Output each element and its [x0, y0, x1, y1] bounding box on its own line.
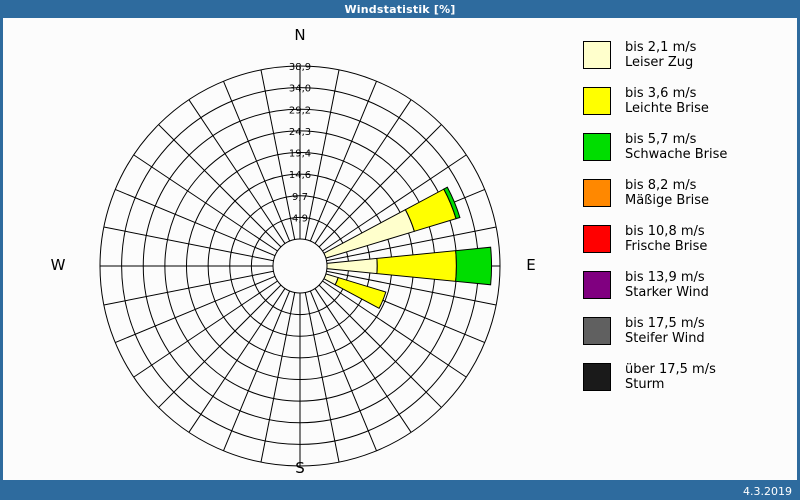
legend-speed-range: bis 10,8 m/s [625, 224, 707, 239]
legend-color-swatch [583, 271, 611, 299]
compass-label-north: N [294, 26, 305, 44]
legend-item[interactable]: bis 3,6 m/sLeichte Brise [583, 86, 793, 124]
compass-label-east: E [526, 256, 535, 274]
window-title: Windstatistik [%] [344, 3, 455, 16]
compass-label-west: W [51, 256, 66, 274]
radial-tick-label: 24,3 [289, 127, 311, 138]
legend-color-swatch [583, 87, 611, 115]
legend-item-label: bis 17,5 m/sSteifer Wind [625, 316, 705, 346]
grid-spoke [115, 276, 275, 342]
legend-item-label: bis 2,1 m/sLeiser Zug [625, 40, 696, 70]
legend-beaufort-name: Frische Brise [625, 239, 707, 254]
legend-item-label: bis 3,6 m/sLeichte Brise [625, 86, 709, 116]
legend-speed-range: bis 8,2 m/s [625, 178, 709, 193]
legend-color-swatch [583, 41, 611, 69]
grid-spoke [104, 227, 274, 261]
radial-tick-label: 38,9 [289, 62, 311, 73]
grid-spoke [159, 125, 281, 247]
legend-beaufort-name: Leiser Zug [625, 55, 696, 70]
legend-beaufort-name: Mäßige Brise [625, 193, 709, 208]
radial-tick-label: 19,4 [289, 149, 311, 160]
grid-spoke [159, 285, 281, 407]
grid-spoke [115, 189, 275, 255]
wind-rose-petals [324, 187, 492, 308]
wind-petal-segment [377, 251, 457, 282]
legend-beaufort-name: Starker Wind [625, 285, 709, 300]
date-stamp: 4.3.2019 [743, 485, 792, 498]
radial-tick-label: 29,2 [289, 105, 311, 116]
legend-item[interactable]: über 17,5 m/sSturm [583, 362, 793, 400]
legend-color-swatch [583, 363, 611, 391]
legend: bis 2,1 m/sLeiser Zugbis 3,6 m/sLeichte … [583, 40, 793, 408]
legend-color-swatch [583, 317, 611, 345]
legend-item[interactable]: bis 10,8 m/sFrische Brise [583, 224, 793, 262]
legend-speed-range: über 17,5 m/s [625, 362, 716, 377]
legend-item-label: bis 8,2 m/sMäßige Brise [625, 178, 709, 208]
compass-label-south: S [295, 459, 305, 477]
legend-beaufort-name: Sturm [625, 377, 716, 392]
legend-item[interactable]: bis 2,1 m/sLeiser Zug [583, 40, 793, 78]
polar-center-hub [273, 239, 327, 293]
legend-speed-range: bis 3,6 m/s [625, 86, 709, 101]
legend-beaufort-name: Steifer Wind [625, 331, 705, 346]
wind-petal-segment [327, 258, 377, 273]
polar-center-circle [273, 239, 327, 293]
radial-tick-label: 4,9 [292, 213, 308, 224]
legend-item-label: bis 10,8 m/sFrische Brise [625, 224, 707, 254]
grid-spoke [305, 292, 339, 462]
legend-speed-range: bis 13,9 m/s [625, 270, 709, 285]
legend-color-swatch [583, 225, 611, 253]
legend-item[interactable]: bis 13,9 m/sStarker Wind [583, 270, 793, 308]
legend-speed-range: bis 5,7 m/s [625, 132, 727, 147]
grid-spoke [310, 291, 376, 451]
legend-item-label: über 17,5 m/sSturm [625, 362, 716, 392]
legend-item[interactable]: bis 5,7 m/sSchwache Brise [583, 132, 793, 170]
legend-item[interactable]: bis 17,5 m/sSteifer Wind [583, 316, 793, 354]
legend-beaufort-name: Schwache Brise [625, 147, 727, 162]
legend-speed-range: bis 17,5 m/s [625, 316, 705, 331]
chart-canvas: 4,99,714,619,424,329,234,038,9 N S W E b… [3, 18, 797, 480]
legend-speed-range: bis 2,1 m/s [625, 40, 696, 55]
legend-beaufort-name: Leichte Brise [625, 101, 709, 116]
grid-spoke [223, 291, 289, 451]
legend-color-swatch [583, 179, 611, 207]
wind-petal-segment [335, 278, 386, 309]
radial-tick-label: 14,6 [289, 170, 311, 181]
legend-color-swatch [583, 133, 611, 161]
wind-petal-segment [456, 247, 492, 285]
legend-item-label: bis 5,7 m/sSchwache Brise [625, 132, 727, 162]
window-titlebar: Windstatistik [%] [0, 0, 800, 18]
grid-spoke [261, 292, 295, 462]
grid-spoke [223, 81, 289, 241]
grid-spoke [104, 271, 274, 305]
radial-tick-label: 9,7 [292, 192, 308, 203]
legend-item[interactable]: bis 8,2 m/sMäßige Brise [583, 178, 793, 216]
legend-item-label: bis 13,9 m/sStarker Wind [625, 270, 709, 300]
grid-spoke [310, 81, 376, 241]
radial-tick-label: 34,0 [289, 84, 311, 95]
wind-statistics-window: Windstatistik [%] 4,99,714,619,424,329,2… [0, 0, 800, 500]
